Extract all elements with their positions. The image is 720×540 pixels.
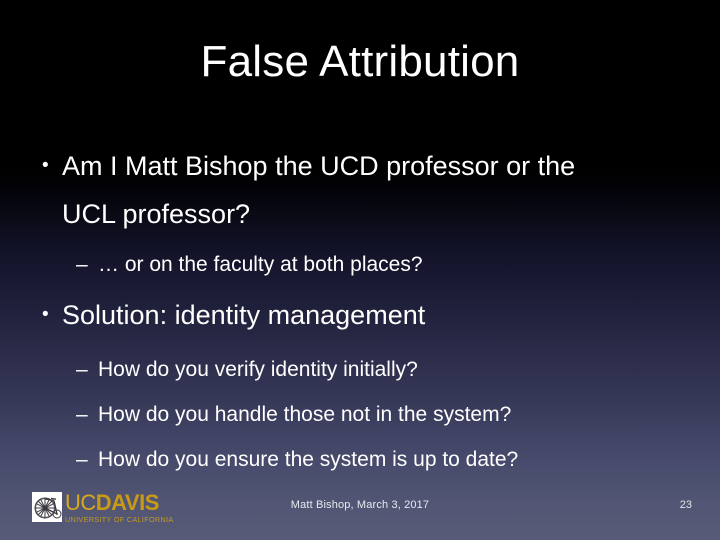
page-title: False Attribution xyxy=(40,34,680,90)
bullet-item-level2: – How do you handle those not in the sys… xyxy=(36,392,686,437)
bullet-text-line1: Am I Matt Bishop the UCD professor or th… xyxy=(62,151,575,181)
title-placeholder: False Attribution xyxy=(40,34,680,106)
logo-tagline: UNIVERSITY OF CALIFORNIA xyxy=(65,515,174,525)
bullet-item-level1: • Solution: identity management xyxy=(36,291,686,339)
bullet-marker-dot: • xyxy=(36,291,62,339)
spacer xyxy=(36,339,686,347)
footer-credit: Matt Bishop, March 3, 2017 xyxy=(0,498,720,512)
bullet-text: How do you handle those not in the syste… xyxy=(98,392,686,437)
bullet-text-line2: UCL professor? xyxy=(62,190,686,238)
slide-number: 23 xyxy=(680,498,692,512)
bullet-item-level2: – … or on the faculty at both places? xyxy=(36,242,686,287)
bullet-item-level1: • Am I Matt Bishop the UCD professor or … xyxy=(36,142,686,238)
bullet-text: How do you ensure the system is up to da… xyxy=(98,437,686,482)
presentation-slide: False Attribution • Am I Matt Bishop the… xyxy=(0,0,720,540)
bullet-item-level2: – How do you verify identity initially? xyxy=(36,347,686,392)
bullet-marker-dash: – xyxy=(76,242,98,287)
bullet-text: Solution: identity management xyxy=(62,291,686,339)
bullet-marker-dot: • xyxy=(36,142,62,190)
slide-footer: UCDAVIS UNIVERSITY OF CALIFORNIA Matt Bi… xyxy=(0,488,720,540)
bullet-marker-dash: – xyxy=(76,347,98,392)
bullet-text: … or on the faculty at both places? xyxy=(98,242,686,287)
bullet-marker-dash: – xyxy=(76,392,98,437)
bullet-marker-dash: – xyxy=(76,437,98,482)
bullet-item-level2: – How do you ensure the system is up to … xyxy=(36,437,686,482)
content-placeholder: • Am I Matt Bishop the UCD professor or … xyxy=(36,142,686,482)
bullet-text: How do you verify identity initially? xyxy=(98,347,686,392)
bullet-text: Am I Matt Bishop the UCD professor or th… xyxy=(62,142,686,238)
